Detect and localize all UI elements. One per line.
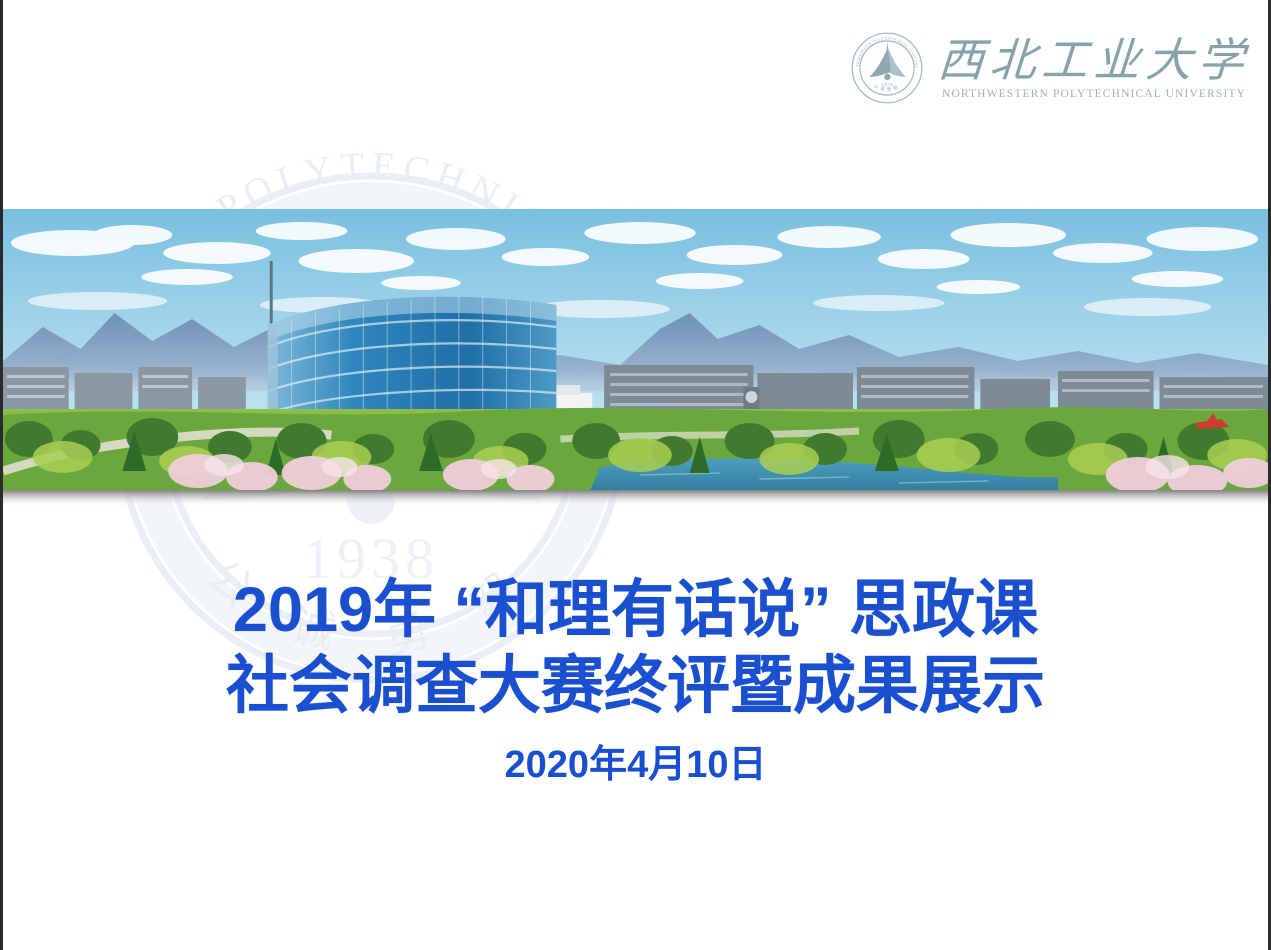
- slide-title-line-2: 社会调查大赛终评暨成果展示: [3, 648, 1268, 724]
- photo-drop-shadow: [3, 490, 1268, 506]
- logo-university-name-en: NORTHWESTERN POLYTECHNICAL UNIVERSITY: [942, 88, 1246, 100]
- logo-university-name-cn: 西北工业大学: [936, 37, 1251, 83]
- slide-title-line-1: 2019年 “和理有话说” 思政课: [3, 572, 1268, 648]
- npu-crest-icon: NORTHWESTERN POLYTECHNICAL UNIVERSITY 公诚…: [850, 31, 924, 105]
- logo-wordmark: 西北工业大学 NORTHWESTERN POLYTECHNICAL UNIVER…: [938, 37, 1250, 100]
- campus-panorama-photo: [3, 209, 1268, 490]
- svg-text:1938: 1938: [881, 83, 893, 89]
- university-logo: NORTHWESTERN POLYTECHNICAL UNIVERSITY 公诚…: [850, 26, 1250, 110]
- slide-date: 2020年4月10日: [3, 742, 1268, 788]
- campus-panorama-image: [3, 209, 1268, 490]
- title-slide: NORTHWESTERN POLYTECHNICAL UNIVERSITY 公 …: [0, 0, 1271, 950]
- slide-title-block: 2019年 “和理有话说” 思政课 社会调查大赛终评暨成果展示 2020年4月1…: [3, 572, 1268, 788]
